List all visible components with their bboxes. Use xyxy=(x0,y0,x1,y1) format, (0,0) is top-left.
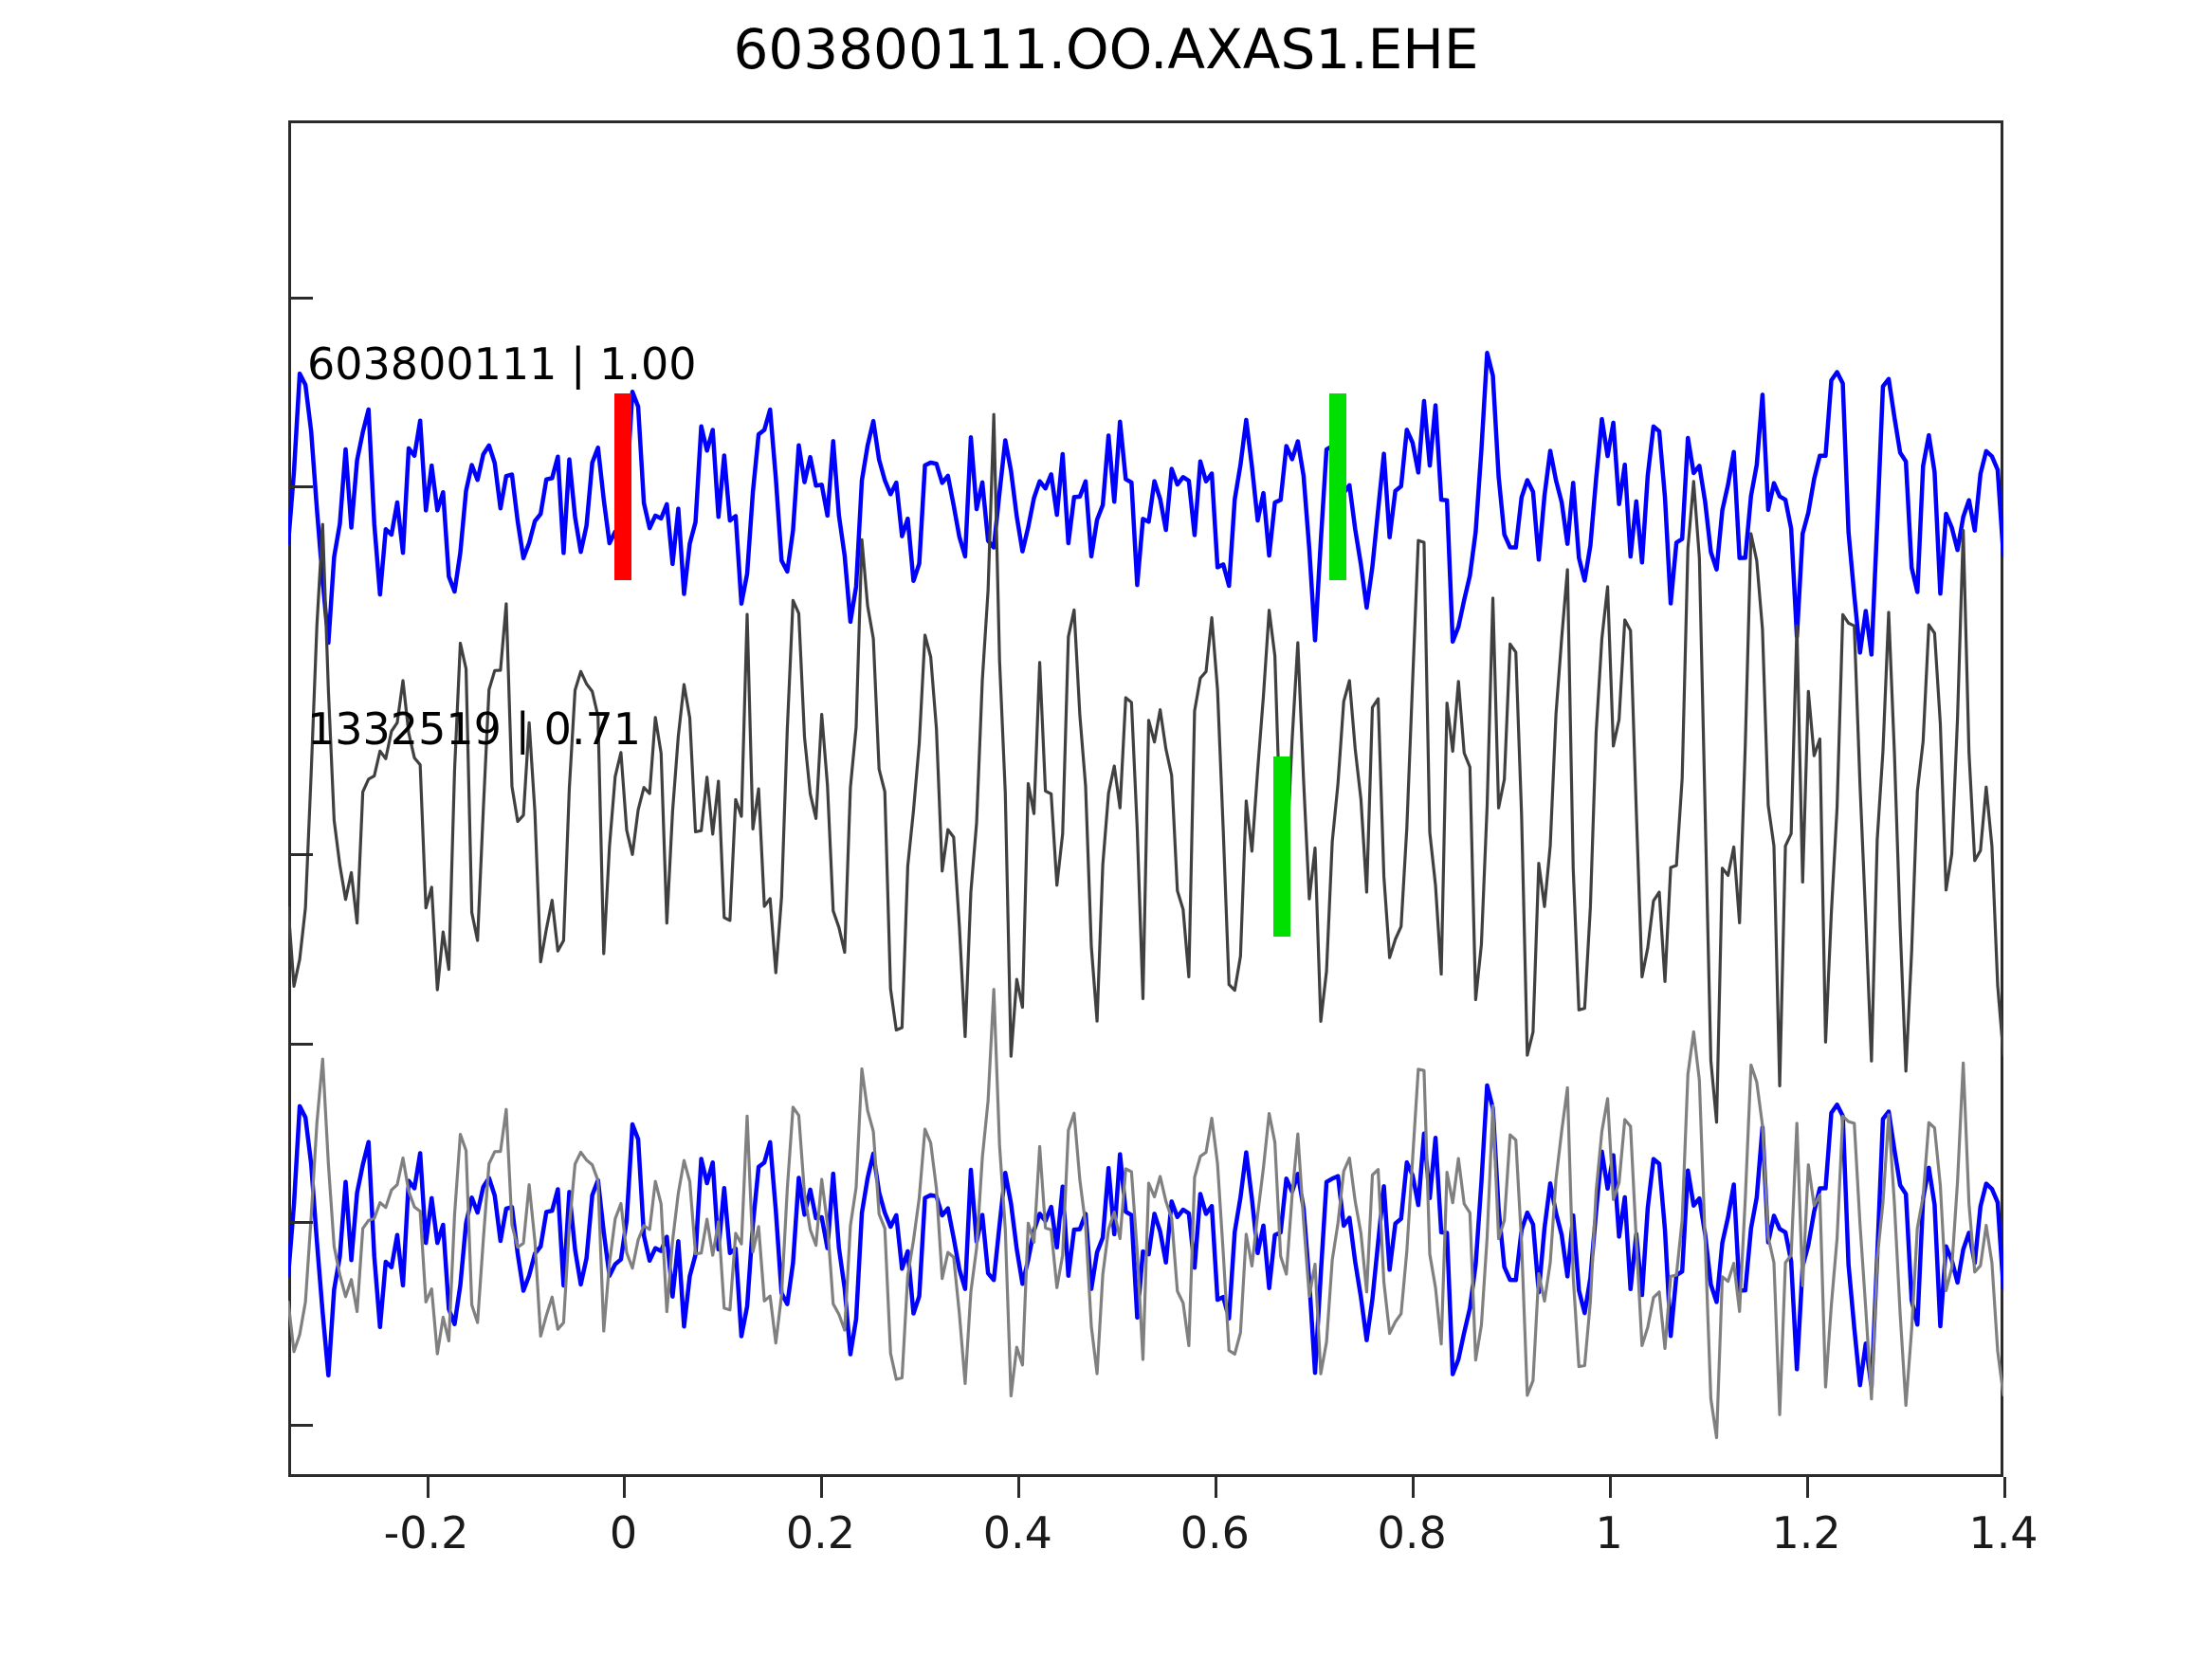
x-tick-label-2: 0.2 xyxy=(786,1507,855,1559)
y-tick-1 xyxy=(288,485,313,488)
y-tick-0 xyxy=(288,297,313,300)
y-tick-4 xyxy=(288,1221,313,1224)
page-title: 603800111.OO.AXAS1.EHE xyxy=(0,17,2212,82)
x-tick-1 xyxy=(623,1477,626,1498)
reference-pick-panel-0[interactable] xyxy=(614,393,631,580)
y-tick-5 xyxy=(288,1424,313,1427)
x-tick-label-0: -0.2 xyxy=(384,1507,469,1559)
detection-pick-panel-1[interactable] xyxy=(1273,757,1290,937)
x-tick-label-7: 1.2 xyxy=(1771,1507,1840,1559)
x-tick-label-4: 0.6 xyxy=(1180,1507,1250,1559)
x-tick-8 xyxy=(2003,1477,2006,1498)
x-tick-7 xyxy=(1806,1477,1809,1498)
x-tick-0 xyxy=(427,1477,430,1498)
waveform-603800111 xyxy=(288,353,2003,654)
waveform-plot xyxy=(288,120,2003,1477)
x-tick-2 xyxy=(820,1477,823,1498)
x-tick-3 xyxy=(1017,1477,1020,1498)
x-tick-6 xyxy=(1609,1477,1612,1498)
trace-label-detection: 1332519 | 0.71 xyxy=(307,703,641,755)
x-tick-5 xyxy=(1412,1477,1415,1498)
x-tick-label-3: 0.4 xyxy=(983,1507,1052,1559)
x-tick-4 xyxy=(1215,1477,1217,1498)
trace-label-template: 603800111 | 1.00 xyxy=(307,338,697,390)
y-tick-3 xyxy=(288,1043,313,1046)
x-tick-label-8: 1.4 xyxy=(1968,1507,2038,1559)
y-tick-2 xyxy=(288,853,313,856)
x-tick-label-1: 0 xyxy=(610,1507,637,1559)
x-tick-label-5: 0.8 xyxy=(1378,1507,1447,1559)
detection-pick-panel-0[interactable] xyxy=(1329,393,1346,580)
waveform-figure: 603800111.OO.AXAS1.EHE -0.200.20.40.60.8… xyxy=(0,0,2212,1659)
x-tick-label-6: 1 xyxy=(1595,1507,1622,1559)
